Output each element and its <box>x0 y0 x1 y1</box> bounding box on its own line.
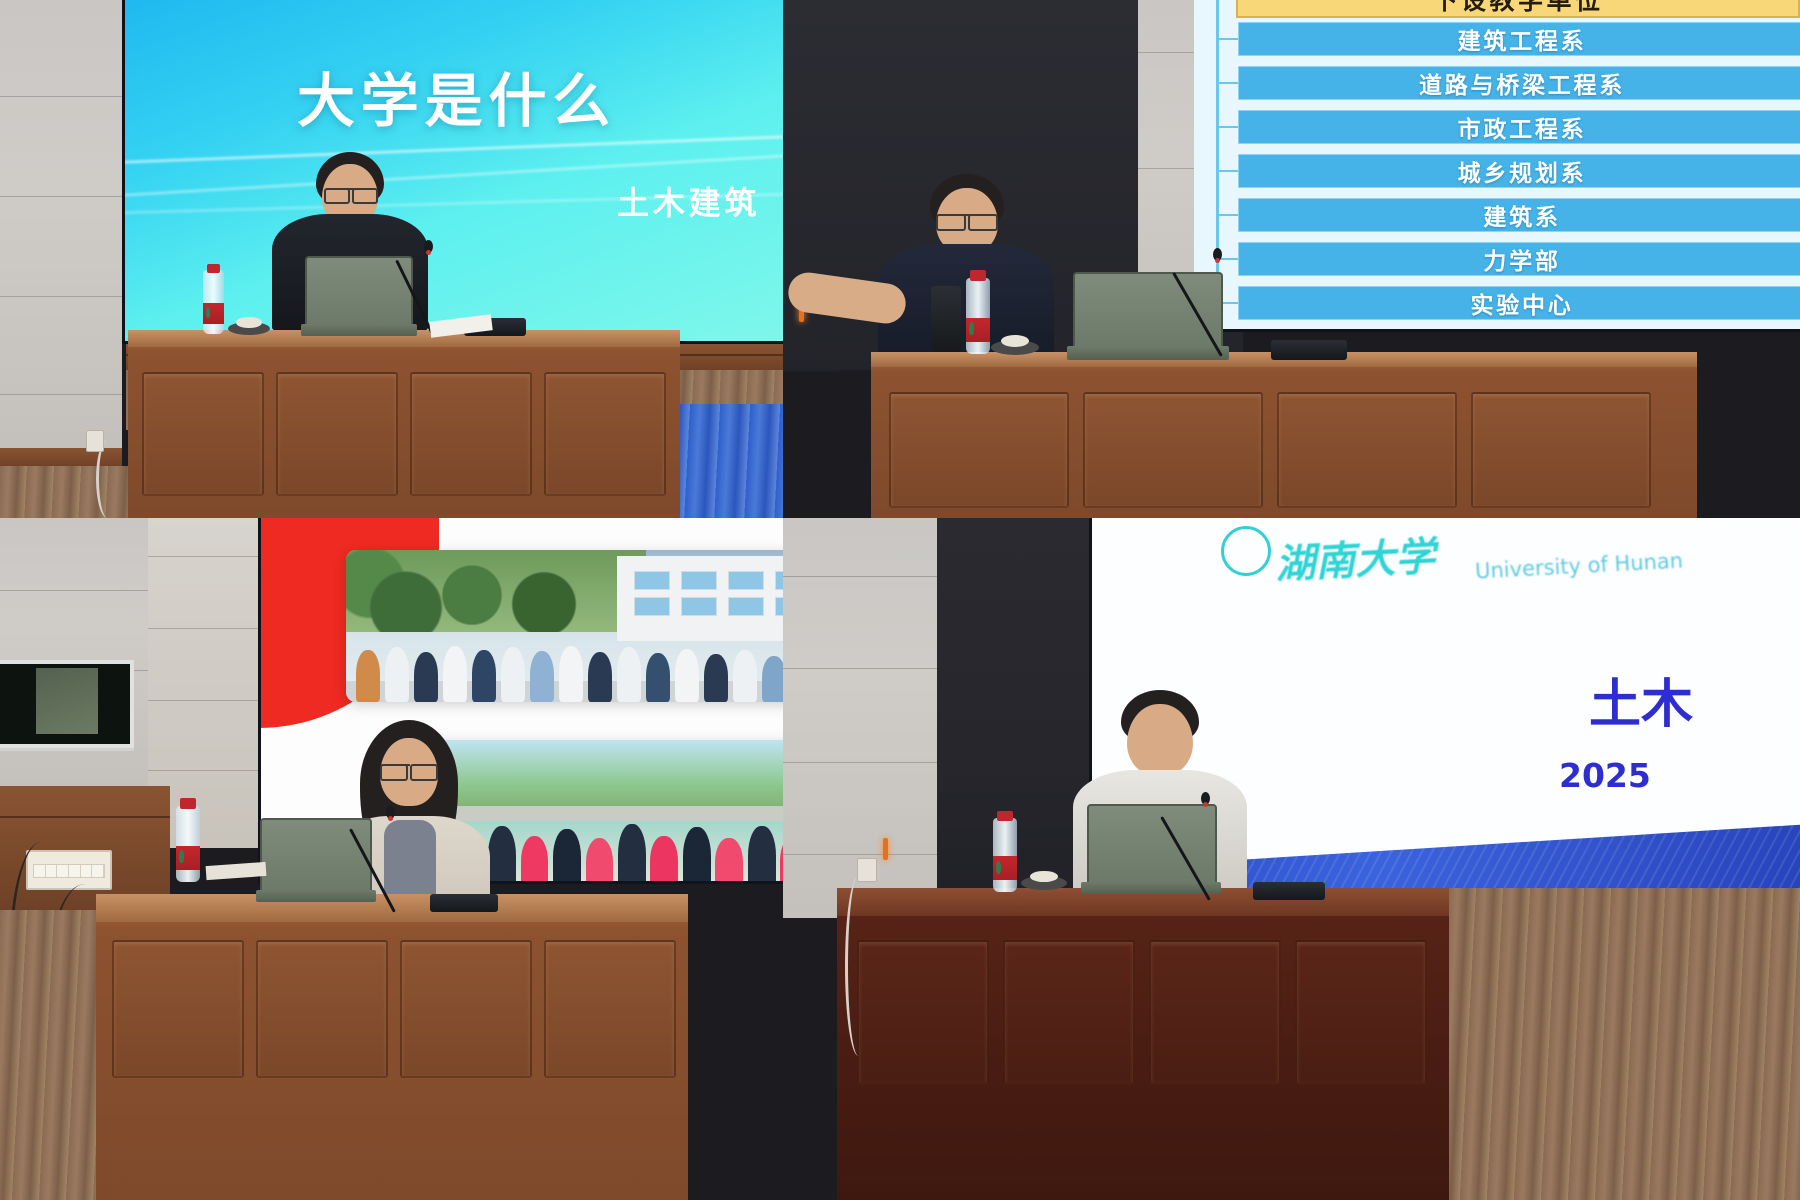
head <box>1127 704 1193 776</box>
photo-panel-top-right: 下设教学单位 建筑工程系 道路与桥梁工程系 市政工程系 城乡规划系 建筑系 力学… <box>783 0 1800 518</box>
water-bottle-3 <box>176 806 200 882</box>
laptop-2[interactable] <box>1067 272 1229 364</box>
wall-outlet <box>86 430 104 452</box>
microphone-2 <box>1213 248 1353 360</box>
microphone-3 <box>386 806 496 914</box>
floor-cable-4 <box>845 876 872 1056</box>
microphone-4 <box>1201 792 1331 902</box>
thermos-cup <box>931 286 961 352</box>
glasses-left <box>324 188 350 204</box>
photo-collage: 大学是什么 土木建筑 <box>0 0 1800 1200</box>
standby-light-4 <box>883 838 888 860</box>
water-bottle-2 <box>966 278 990 354</box>
glasses-left <box>936 214 966 231</box>
wall-left <box>0 0 122 448</box>
saucer-2 <box>991 340 1039 355</box>
saucer-1 <box>228 322 270 335</box>
glasses-left <box>380 764 408 781</box>
glasses-right <box>352 188 378 204</box>
lectern-table-2 <box>871 352 1697 518</box>
water-bottle-4 <box>993 818 1017 892</box>
saucer-4 <box>1021 876 1067 890</box>
photo-panel-bottom-left <box>0 518 783 1200</box>
lectern-table-1 <box>128 330 680 518</box>
photo-panel-bottom-right: 湖南大学 University of Hunan 土木 2025 <box>783 518 1800 1200</box>
laptop-3[interactable] <box>256 818 376 908</box>
floor-bottom-right <box>1449 888 1800 1200</box>
water-bottle-1 <box>203 270 224 334</box>
lectern-table-3 <box>96 894 688 1200</box>
glasses-right <box>410 764 438 781</box>
photo-panel-top-left: 大学是什么 土木建筑 <box>0 0 783 518</box>
wall-window <box>0 660 134 748</box>
glasses-right <box>968 214 998 231</box>
lectern-table-4 <box>837 888 1449 1200</box>
